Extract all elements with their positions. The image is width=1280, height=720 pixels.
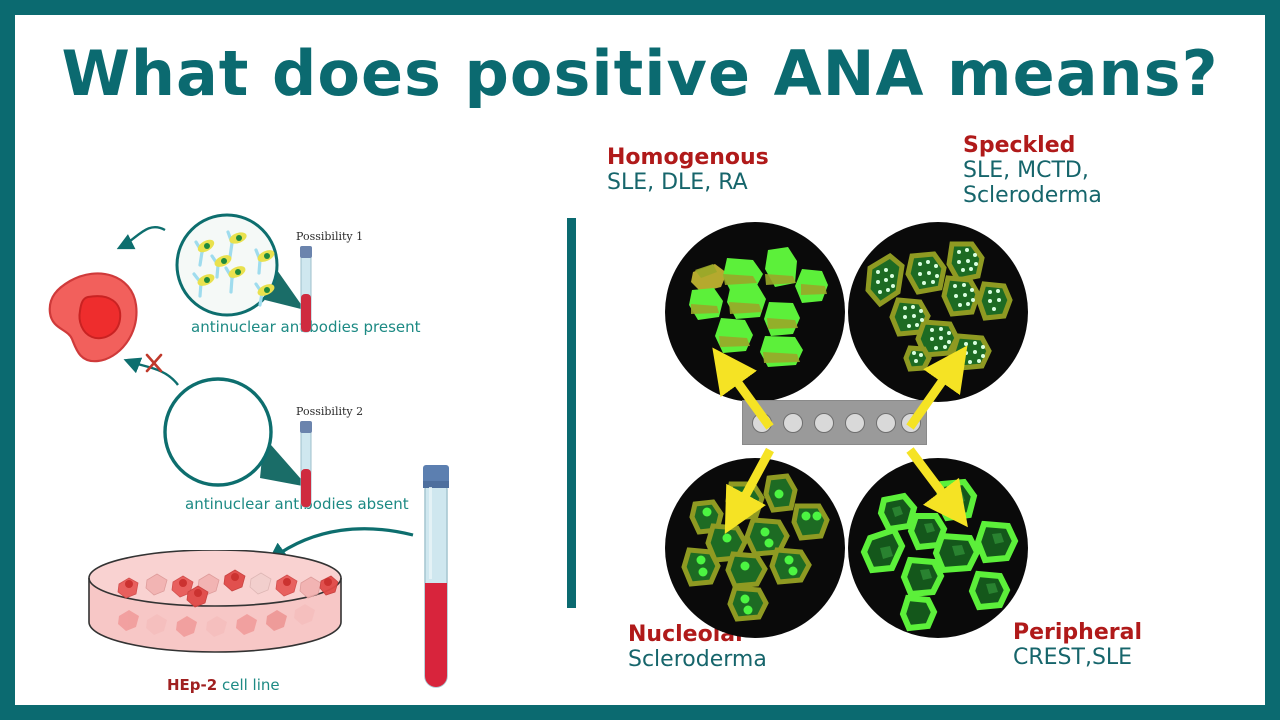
slide-well-3: [814, 413, 834, 433]
pattern-label-peripheral: Peripheral CREST,SLE: [1013, 620, 1142, 671]
panel-divider: [567, 218, 576, 608]
possibility-2-tag: Possibility 2: [296, 405, 363, 418]
pattern-diseases-speckled-line2: Scleroderma: [963, 184, 1102, 209]
hep2-label: HEp-2: [167, 676, 217, 694]
slide-well-2: [783, 413, 803, 433]
slide-canvas: What does positive ANA means?: [15, 15, 1265, 705]
pattern-label-speckled: Speckled SLE, MCTD, Scleroderma: [963, 133, 1102, 209]
blood-collection-tube: [415, 465, 455, 695]
pattern-name-homogenous: Homogenous: [607, 145, 769, 170]
pattern-diseases-peripheral: CREST,SLE: [1013, 646, 1142, 671]
micrograph-nucleolar: [665, 458, 845, 638]
target-cell-illustration: [40, 263, 150, 373]
hep2-cell-line-caption: HEp-2 cell line: [167, 676, 280, 694]
pattern-name-speckled: Speckled: [963, 133, 1102, 158]
pattern-diseases-nucleolar: Scleroderma: [628, 648, 767, 673]
magnifier-antibodies-absent: [160, 375, 320, 505]
sample-tube-small-1: [298, 246, 314, 336]
slide-frame: What does positive ANA means?: [0, 0, 1280, 720]
slide-well-1: [752, 413, 772, 433]
pattern-diseases-speckled-line1: SLE, MCTD,: [963, 159, 1102, 184]
sample-tube-small-2: [298, 421, 314, 511]
micrograph-peripheral: [848, 458, 1028, 638]
microscope-slide-bar: [742, 400, 927, 445]
micrograph-homogenous: [665, 222, 845, 402]
micrograph-speckled: [848, 222, 1028, 402]
slide-well-6: [901, 413, 921, 433]
petri-dish-hep2: [85, 550, 345, 670]
pattern-diseases-homogenous: SLE, DLE, RA: [607, 171, 769, 196]
pattern-name-peripheral: Peripheral: [1013, 620, 1142, 645]
possibility-2-caption: antinuclear antibodies absent: [185, 495, 409, 513]
pattern-label-homogenous: Homogenous SLE, DLE, RA: [607, 145, 769, 196]
cell-line-label: cell line: [217, 676, 279, 694]
slide-well-5: [876, 413, 896, 433]
slide-well-4: [845, 413, 865, 433]
possibility-1-tag: Possibility 1: [296, 230, 363, 243]
